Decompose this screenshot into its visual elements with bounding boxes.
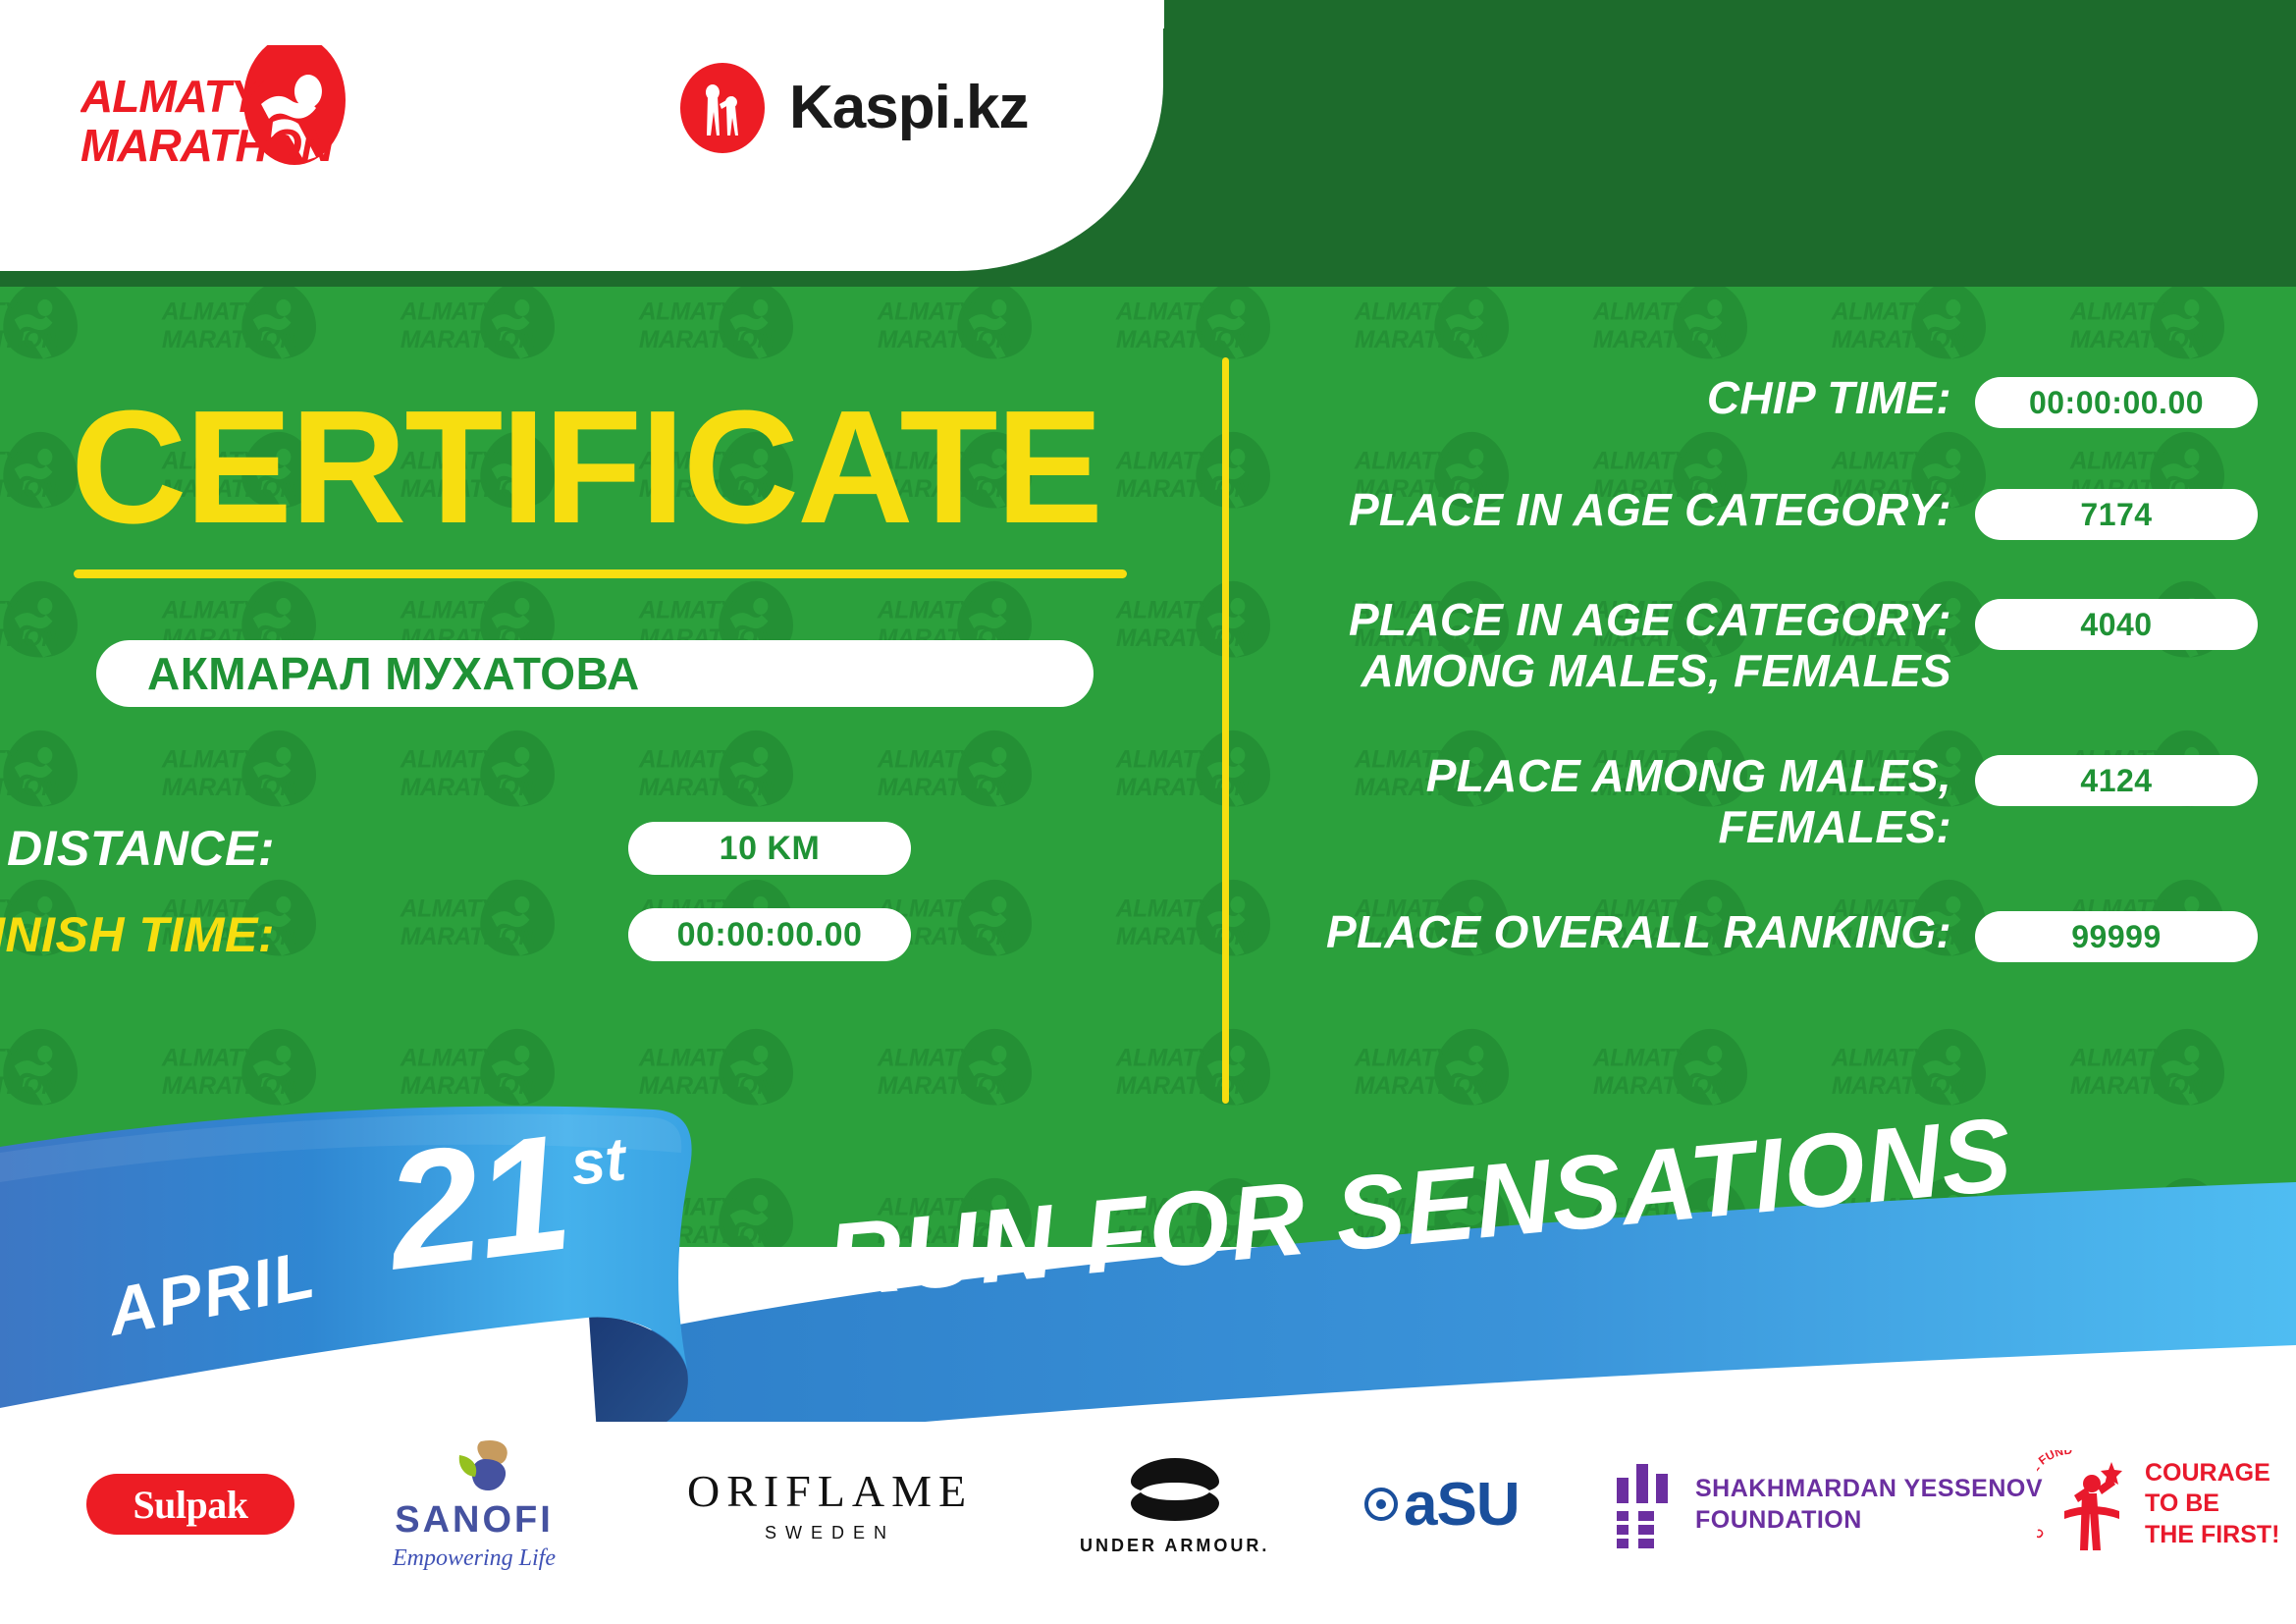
finish-time-label: FINISH TIME: [0, 906, 275, 963]
svg-text:MARATHON: MARATHON [1593, 1222, 1731, 1247]
watermark-tile: ALMATYMARATHON [876, 1155, 1101, 1247]
svg-text:MARATHON: MARATHON [0, 775, 60, 801]
result-row-gender-place: PLACE AMONG MALES,FEMALES: 4124 [1266, 751, 2258, 852]
sponsor-sulpak: Sulpak [86, 1426, 294, 1583]
yessenov-name: SHAKHMARDAN YESSENOV [1695, 1473, 2043, 1505]
svg-text:MARATHON: MARATHON [1832, 1222, 1969, 1247]
watermark-tile: ALMATYMARATHON [160, 1005, 386, 1153]
yessenov-tagline: FOUNDATION [1695, 1504, 2043, 1537]
age-category-value: 7174 [2080, 497, 2152, 533]
sponsor-asu: aSU [1364, 1426, 1520, 1583]
svg-text:ALMATY: ALMATY [1354, 1046, 1454, 1072]
svg-text:ALMATY: ALMATY [877, 598, 977, 624]
svg-text:ALMATY: ALMATY [400, 299, 500, 326]
svg-text:ALMATY: ALMATY [400, 747, 500, 774]
watermark-tile: ALMATYMARATHON [399, 1155, 624, 1247]
header-top-pad [0, 0, 1090, 8]
sponsor-under-armour: UNDER ARMOUR. [1080, 1426, 1269, 1583]
under-armour-mark-icon [1101, 1452, 1249, 1523]
certificate-canvas: ALMATYMARATHONALMATYMARATHONALMATYMARATH… [0, 0, 2296, 1624]
age-category-label: PLACE IN AGE CATEGORY: [1266, 485, 1975, 536]
svg-text:MARATHON: MARATHON [1116, 1222, 1254, 1247]
field-row-finish-time: FINISH TIME: 00:00:00.00 [0, 892, 1217, 978]
svg-text:ALMATY: ALMATY [0, 747, 23, 774]
svg-text:MARATHON: MARATHON [878, 775, 1015, 801]
overall-ranking-value: 99999 [2071, 919, 2161, 955]
left-fields-list: DISTANCE: 10 KM FINISH TIME: 00:00:00.00 [0, 805, 1217, 978]
svg-text:MARATHON: MARATHON [400, 1073, 538, 1100]
svg-text:ALMATY: ALMATY [0, 1046, 23, 1072]
watermark-tile: ALMATYMARATHON [1114, 1155, 1340, 1247]
svg-text:MARATHON: MARATHON [162, 327, 299, 353]
svg-text:MARATHON: MARATHON [1832, 1073, 1969, 1100]
svg-text:ALMATY: ALMATY [877, 299, 977, 326]
courage-fund-tagline-wrap: COURAGE TO BE THE FIRST! [2145, 1458, 2280, 1550]
svg-text:ALMATY: ALMATY [1831, 1195, 1931, 1221]
watermark-tile: ALMATYMARATHON [160, 1155, 386, 1247]
svg-text:ALMATY: ALMATY [161, 299, 261, 326]
courage-fund-mark-icon: CORPORATE FUND [2037, 1450, 2131, 1558]
svg-text:ALMATY: ALMATY [1115, 449, 1215, 475]
svg-text:ALMATY: ALMATY [161, 1046, 261, 1072]
svg-text:MARATHON: MARATHON [0, 625, 60, 652]
svg-text:MARATHON: MARATHON [1355, 1073, 1492, 1100]
sanofi-logo: SANOFI Empowering Life [393, 1437, 556, 1572]
sponsor-oriflame: ORIFLAME SWEDEN [687, 1426, 973, 1583]
svg-text:MARATHON: MARATHON [1116, 1073, 1254, 1100]
title-underline [74, 569, 1127, 578]
svg-text:ALMATY: ALMATY [638, 1195, 738, 1221]
watermark-tile: ALMATYMARATHON [2068, 1005, 2294, 1153]
finish-time-value: 00:00:00.00 [677, 916, 863, 954]
sanofi-tagline: Empowering Life [393, 1545, 556, 1572]
sulpak-logo: Sulpak [86, 1474, 294, 1535]
participant-name: АКМАРАЛ МУХАТОВА [147, 651, 640, 696]
yessenov-mark-icon [1615, 1460, 1676, 1548]
age-category-value-pill: 7174 [1975, 489, 2258, 540]
watermark-tile: ALMATYMARATHON [637, 1005, 863, 1153]
svg-text:ALMATY: ALMATY [161, 747, 261, 774]
svg-text:MARATHON: MARATHON [2070, 1073, 2208, 1100]
svg-text:MARATHON: MARATHON [0, 1222, 60, 1247]
svg-text:MARATHON: MARATHON [1355, 327, 1492, 353]
svg-text:MARATHON: MARATHON [0, 1073, 60, 1100]
yessenov-logo: SHAKHMARDAN YESSENOV FOUNDATION [1615, 1460, 2043, 1548]
sanofi-name: SANOFI [393, 1499, 556, 1542]
svg-text:MARATHON: MARATHON [1116, 327, 1254, 353]
distance-value-pill: 10 KM [628, 822, 911, 875]
svg-text:ALMATY: ALMATY [877, 1046, 977, 1072]
result-row-age-category-gender: PLACE IN AGE CATEGORY:AMONG MALES, FEMAL… [1266, 595, 2258, 696]
svg-text:MARATHON: MARATHON [1116, 625, 1254, 652]
watermark-tile: ALMATYMARATHON [0, 1155, 147, 1247]
svg-text:ALMATY: ALMATY [1592, 1195, 1692, 1221]
svg-text:ALMATY: ALMATY [1115, 299, 1215, 326]
page-title: CERTIFICATE [71, 395, 1101, 540]
sponsor-sanofi: SANOFI Empowering Life [393, 1426, 556, 1583]
result-row-chip-time: CHIP TIME: 00:00:00.00 [1266, 373, 2258, 428]
svg-text:MARATHON: MARATHON [878, 1222, 1015, 1247]
svg-text:MARATHON: MARATHON [2070, 1222, 2208, 1247]
svg-text:ALMATY: ALMATY [2069, 299, 2169, 326]
gender-place-value: 4124 [2080, 763, 2152, 799]
results-column: CHIP TIME: 00:00:00.00 PLACE IN AGE CATE… [1266, 373, 2258, 1001]
finish-time-value-pill: 00:00:00.00 [628, 908, 911, 961]
svg-text:ALMATY: ALMATY [877, 747, 977, 774]
almaty-marathon-logo: ALMATY MARATHON [80, 45, 375, 169]
sulpak-label: Sulpak [133, 1482, 247, 1528]
svg-text:MARATHON: MARATHON [162, 775, 299, 801]
svg-text:MARATHON: MARATHON [878, 1073, 1015, 1100]
oriflame-tagline: SWEDEN [687, 1523, 973, 1543]
asu-logo: aSU [1364, 1470, 1520, 1540]
svg-text:ALMATY: ALMATY [1115, 747, 1215, 774]
overall-ranking-value-pill: 99999 [1975, 911, 2258, 962]
courage-fund-logo: CORPORATE FUND COURAGE TO BE THE FIRST! [2037, 1450, 2280, 1558]
svg-text:ALMATY: ALMATY [0, 449, 23, 475]
result-row-age-category: PLACE IN AGE CATEGORY: 7174 [1266, 485, 2258, 540]
oriflame-name: ORIFLAME [687, 1465, 973, 1517]
field-row-distance: DISTANCE: 10 KM [0, 805, 1217, 892]
asu-dot-icon [1364, 1488, 1398, 1521]
svg-text:ALMATY: ALMATY [0, 299, 23, 326]
svg-text:MARATHON: MARATHON [639, 775, 776, 801]
svg-text:ALMATY: ALMATY [2069, 1046, 2169, 1072]
sponsor-bar: Sulpak SANOFI Empowering Life ORIFLAME S… [0, 1426, 2296, 1583]
svg-text:MARATHON: MARATHON [1116, 476, 1254, 503]
svg-text:MARATHON: MARATHON [1832, 327, 1969, 353]
svg-text:ALMATY: ALMATY [400, 1046, 500, 1072]
watermark-tile: ALMATYMARATHON [876, 1005, 1101, 1153]
green-background: ALMATYMARATHONALMATYMARATHONALMATYMARATH… [0, 0, 2296, 1247]
svg-text:ALMATY: ALMATY [400, 1195, 500, 1221]
kaspi-wordmark: Kaspi.kz [789, 78, 1029, 138]
kaspi-logo: Kaspi.kz [677, 59, 1050, 157]
watermark-tile: ALMATYMARATHON [1830, 1155, 2056, 1247]
svg-text:MARATHON: MARATHON [0, 327, 60, 353]
watermark-tile: ALMATYMARATHON [1830, 1005, 2056, 1153]
yessenov-name-wrap: SHAKHMARDAN YESSENOV FOUNDATION [1695, 1473, 2043, 1537]
svg-text:ALMATY: ALMATY [161, 598, 261, 624]
svg-text:ALMATY: ALMATY [638, 299, 738, 326]
gender-place-label: PLACE AMONG MALES,FEMALES: [1266, 751, 1975, 852]
svg-text:ALMATY: ALMATY [80, 71, 265, 122]
svg-text:ALMATY: ALMATY [0, 1195, 23, 1221]
gender-place-value-pill: 4124 [1975, 755, 2258, 806]
svg-text:ALMATY: ALMATY [1115, 1046, 1215, 1072]
svg-text:MARATHON: MARATHON [1593, 1073, 1731, 1100]
age-category-gender-value-pill: 4040 [1975, 599, 2258, 650]
svg-text:MARATHON: MARATHON [1116, 775, 1254, 801]
distance-value: 10 KM [720, 830, 821, 868]
distance-label: DISTANCE: [7, 820, 275, 877]
sponsor-yessenov: SHAKHMARDAN YESSENOV FOUNDATION [1615, 1426, 2043, 1583]
watermark-tile: ALMATYMARATHON [1353, 1005, 1578, 1153]
chip-time-label: CHIP TIME: [1266, 373, 1975, 424]
watermark-tile: ALMATYMARATHON [1591, 1005, 1817, 1153]
svg-text:MARATHON: MARATHON [162, 1073, 299, 1100]
svg-text:ALMATY: ALMATY [1592, 1046, 1692, 1072]
svg-text:MARATHON: MARATHON [80, 120, 335, 169]
svg-text:MARATHON: MARATHON [1355, 1222, 1492, 1247]
svg-text:ALMATY: ALMATY [1354, 299, 1454, 326]
age-category-gender-value: 4040 [2080, 607, 2152, 643]
watermark-tile: ALMATYMARATHON [0, 1005, 147, 1153]
svg-text:ALMATY: ALMATY [1354, 1195, 1454, 1221]
sponsor-courage-fund: CORPORATE FUND COURAGE TO BE THE FIRST! [2037, 1426, 2280, 1583]
svg-text:ALMATY: ALMATY [638, 598, 738, 624]
svg-text:MARATHON: MARATHON [639, 327, 776, 353]
watermark-tile: ALMATYMARATHON [1591, 1155, 1817, 1247]
svg-text:MARATHON: MARATHON [878, 327, 1015, 353]
courage-fund-arc-label: CORPORATE FUND [2037, 1450, 2073, 1542]
svg-text:MARATHON: MARATHON [639, 1073, 776, 1100]
svg-text:ALMATY: ALMATY [1115, 1195, 1215, 1221]
asu-name: aSU [1404, 1470, 1520, 1540]
svg-text:MARATHON: MARATHON [639, 1222, 776, 1247]
svg-text:ALMATY: ALMATY [638, 1046, 738, 1072]
column-divider [1222, 357, 1229, 1104]
overall-ranking-label: PLACE OVERALL RANKING: [1266, 907, 1975, 958]
svg-text:MARATHON: MARATHON [400, 775, 538, 801]
svg-text:ALMATY: ALMATY [1831, 1046, 1931, 1072]
svg-text:MARATHON: MARATHON [1593, 327, 1731, 353]
sanofi-mark-icon [420, 1437, 528, 1494]
age-category-gender-label: PLACE IN AGE CATEGORY:AMONG MALES, FEMAL… [1266, 595, 1975, 696]
result-row-overall: PLACE OVERALL RANKING: 99999 [1266, 907, 2258, 962]
participant-name-field: АКМАРАЛ МУХАТОВА [96, 640, 1094, 707]
chip-time-value-pill: 00:00:00.00 [1975, 377, 2258, 428]
svg-text:MARATHON: MARATHON [400, 327, 538, 353]
svg-text:ALMATY: ALMATY [0, 598, 23, 624]
svg-text:MARATHON: MARATHON [400, 1222, 538, 1247]
svg-text:CORPORATE FUND: CORPORATE FUND [2037, 1450, 2073, 1542]
ribbon-month: APRIL [101, 1236, 322, 1351]
under-armour-logo: UNDER ARMOUR. [1080, 1452, 1269, 1556]
svg-text:MARATHON: MARATHON [162, 1222, 299, 1247]
oriflame-logo: ORIFLAME SWEDEN [687, 1465, 973, 1543]
watermark-tile: ALMATYMARATHON [399, 1005, 624, 1153]
svg-text:ALMATY: ALMATY [161, 1195, 261, 1221]
watermark-tile: ALMATYMARATHON [1353, 1155, 1578, 1247]
watermark-tile: ALMATYMARATHON [2068, 1155, 2294, 1247]
svg-text:ALMATY: ALMATY [1592, 299, 1692, 326]
svg-text:ALMATY: ALMATY [1115, 598, 1215, 624]
svg-text:MARATHON: MARATHON [0, 476, 60, 503]
svg-text:ALMATY: ALMATY [638, 747, 738, 774]
svg-text:ALMATY: ALMATY [2069, 1195, 2169, 1221]
under-armour-name: UNDER ARMOUR. [1080, 1536, 1269, 1556]
svg-text:MARATHON: MARATHON [2070, 327, 2208, 353]
chip-time-value: 00:00:00.00 [2029, 385, 2204, 421]
svg-text:ALMATY: ALMATY [1831, 299, 1931, 326]
svg-text:ALMATY: ALMATY [877, 1195, 977, 1221]
svg-text:ALMATY: ALMATY [400, 598, 500, 624]
courage-fund-tagline: COURAGE TO BE THE FIRST! [2145, 1459, 2280, 1548]
watermark-tile: ALMATYMARATHON [637, 1155, 863, 1247]
kaspi-mark-icon [677, 63, 768, 153]
